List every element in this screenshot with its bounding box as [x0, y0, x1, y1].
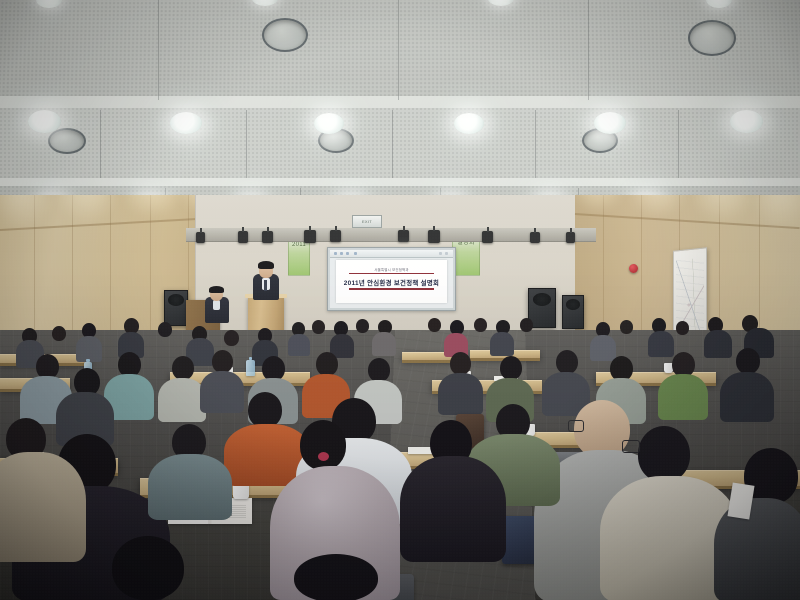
- attendee-torso-green: [658, 374, 708, 420]
- attendee-torso: [200, 371, 244, 413]
- attendee-head: [356, 319, 369, 333]
- track-light-icon: [482, 231, 493, 243]
- ceiling-downlight: [454, 113, 484, 134]
- ceiling-downlight: [730, 110, 763, 133]
- attendee-head: [224, 330, 239, 346]
- attendee-head: [556, 350, 578, 374]
- attendee-head: [620, 320, 633, 334]
- ceiling-seam: [392, 110, 393, 178]
- hair-tie: [318, 452, 329, 461]
- ceiling-downlight: [594, 112, 626, 134]
- ceiling-seam: [678, 110, 679, 178]
- ceiling-seam: [588, 0, 589, 100]
- presentation-window: 서울특별시 보건정책과 2011년 안심환경 보건정책 설명회: [330, 250, 453, 308]
- attendee-torso: [704, 330, 732, 358]
- presenter-hair: [258, 261, 274, 269]
- attendee-torso-beige-jacket: [0, 452, 86, 562]
- attendee-torso-dark: [400, 456, 506, 562]
- attendee-head: [520, 318, 533, 332]
- attendee-head: [450, 352, 471, 375]
- ceiling-downlight: [314, 113, 344, 134]
- eyeglasses-icon: [622, 440, 640, 453]
- track-light-icon: [238, 231, 248, 243]
- attendee-torso: [720, 372, 774, 422]
- slide-rule-top: [349, 273, 433, 274]
- ceiling-downlight: [28, 110, 61, 133]
- seminar-hall-photograph: EXIT 2011 설명회 서울특별시 보건정책과: [0, 0, 800, 600]
- attendee-head: [736, 348, 760, 374]
- attendee-head: [316, 352, 338, 376]
- fire-alarm-bell-icon: [629, 264, 638, 273]
- attendee-head: [312, 320, 325, 334]
- attendee-head: [172, 356, 194, 380]
- pa-speaker: [164, 290, 188, 326]
- exit-sign-label: EXIT: [353, 216, 381, 227]
- ceiling-seam: [158, 0, 159, 100]
- attendee-head: [428, 318, 441, 332]
- ceiling-seam: [100, 110, 101, 178]
- slide-subtitle: 서울특별시 보건정책과: [336, 267, 447, 272]
- track-light-icon: [262, 231, 273, 243]
- attendee-head: [158, 322, 172, 337]
- seated-panelist-hair: [209, 286, 224, 293]
- attendee-torso: [158, 378, 206, 422]
- water-bottle: [246, 360, 255, 376]
- attendee-torso: [372, 332, 396, 356]
- attendee-torso: [590, 335, 616, 361]
- pa-speaker: [562, 295, 584, 329]
- attendee-torso: [438, 373, 483, 415]
- eyeglasses-icon: [568, 420, 584, 432]
- attendee-head: [474, 318, 487, 332]
- attendee-head: [112, 536, 184, 600]
- air-diffuser-icon: [48, 128, 86, 154]
- attendee-head: [294, 554, 378, 600]
- ceiling-tier-middle: [0, 108, 800, 180]
- ceiling-seam: [535, 110, 536, 178]
- ceiling-seam: [246, 110, 247, 178]
- attendee-torso: [288, 334, 310, 356]
- attendee-head: [52, 326, 66, 341]
- attendee-head: [500, 356, 522, 380]
- attendee-head: [248, 392, 282, 428]
- ceiling-downlight: [170, 112, 202, 134]
- slide-rule-bottom: [349, 288, 433, 289]
- presentation-title-bar: [330, 250, 453, 258]
- track-light-icon: [196, 232, 205, 243]
- track-light-icon: [304, 230, 316, 243]
- attendee-torso: [648, 331, 674, 357]
- attendee-head: [638, 426, 690, 482]
- attendee-head: [212, 350, 233, 373]
- slide-title: 2011년 안심환경 보건정책 설명회: [336, 278, 447, 287]
- stage-banner-left: 2011: [288, 238, 310, 276]
- attendee-torso: [490, 332, 514, 356]
- projection-screen: 서울특별시 보건정책과 2011년 안심환경 보건정책 설명회: [327, 247, 456, 311]
- presenter-tie: [264, 280, 267, 291]
- exit-sign: EXIT: [352, 215, 382, 228]
- attendee-head: [368, 358, 390, 382]
- attendee-head: [676, 321, 689, 335]
- ceiling-tier-upper: [0, 0, 800, 99]
- ceiling-seam: [398, 0, 399, 100]
- attendee-head: [300, 420, 346, 470]
- presentation-slide: 서울특별시 보건정책과 2011년 안심환경 보건정책 설명회: [336, 260, 447, 303]
- track-light-icon: [566, 232, 575, 243]
- attendee-torso: [148, 454, 232, 520]
- track-light-icon: [530, 232, 540, 243]
- air-diffuser-icon: [262, 18, 308, 52]
- seated-panelist-shirt: [213, 300, 220, 310]
- air-diffuser-icon: [688, 20, 736, 56]
